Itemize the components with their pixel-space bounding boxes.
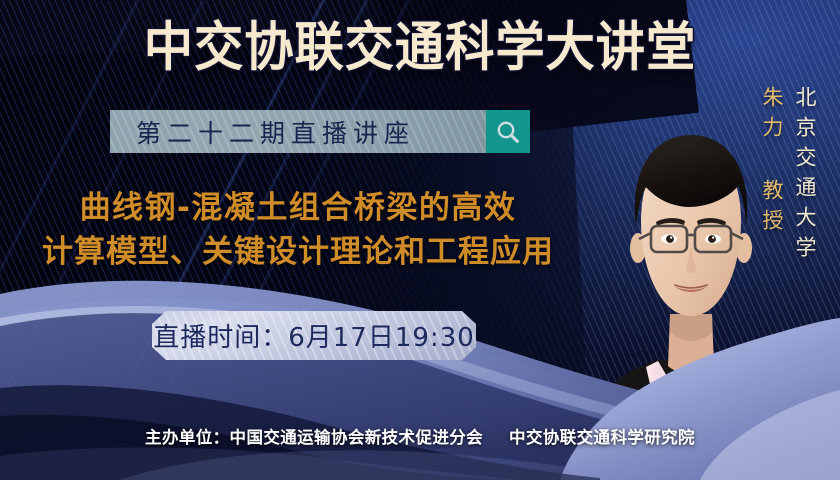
footer-organizer-1: 中国交通运输协会新技术促进分会 [230, 428, 484, 447]
session-bar: 第二十二期直播讲座 [110, 110, 530, 153]
lecture-title-line-2: 计算模型、关键设计理论和工程应用 [0, 230, 596, 274]
lecture-title-line-1: 曲线钢-混凝土组合桥梁的高效 [0, 186, 596, 230]
speaker-affiliation: 北京交通大学 [790, 86, 820, 266]
footer-organizer-2: 中交协联交通科学研究院 [509, 428, 695, 447]
search-icon [495, 119, 521, 145]
lecture-poster: 中交协联交通科学大讲堂 第二十二期直播讲座 曲线钢-混凝土组合桥梁的高效 计算模… [0, 0, 840, 480]
footer-organizers: 主办单位：中国交通运输协会新技术促进分会中交协联交通科学研究院 [0, 424, 840, 448]
session-label-bar: 第二十二期直播讲座 [110, 110, 486, 153]
broadcast-time-badge: 直播时间：6月17日19:30 [152, 311, 476, 360]
broadcast-time-text: 直播时间：6月17日19:30 [153, 317, 475, 354]
speaker-name-title: 朱力 教授 [757, 86, 787, 239]
search-button[interactable] [486, 110, 530, 153]
session-label: 第二十二期直播讲座 [110, 114, 415, 150]
lecture-title: 曲线钢-混凝土组合桥梁的高效 计算模型、关键设计理论和工程应用 [0, 186, 596, 274]
footer-prefix: 主办单位： [145, 428, 230, 447]
page-title: 中交协联交通科学大讲堂 [29, 18, 810, 78]
